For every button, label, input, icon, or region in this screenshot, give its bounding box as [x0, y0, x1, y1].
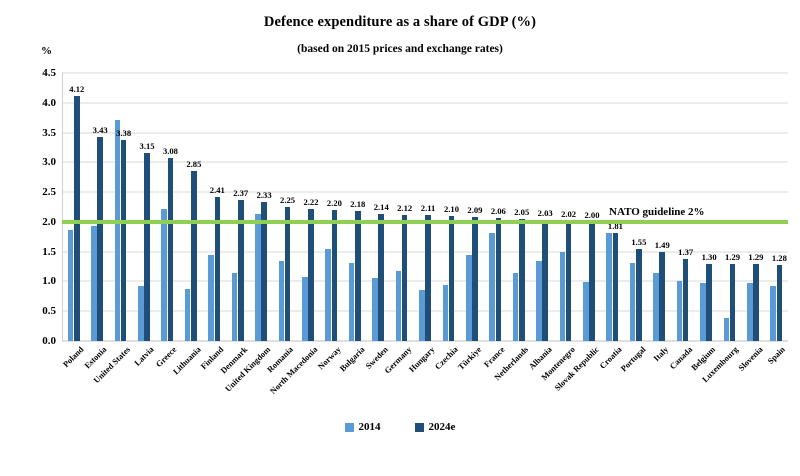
x-axis-category-label: Spain [766, 345, 787, 366]
bar-2024e [659, 252, 665, 341]
bar-group: 4.12 [62, 73, 85, 341]
bar-group: 1.29 [741, 73, 764, 341]
bar-group: 2.03 [530, 73, 553, 341]
legend-swatch-icon [415, 423, 424, 432]
bar-2014 [232, 273, 238, 341]
bar-2014 [560, 252, 566, 341]
bar-2014 [630, 263, 636, 341]
legend-item[interactable]: 2014 [345, 421, 381, 433]
bar-2014 [396, 271, 402, 341]
bar-2024e [613, 233, 619, 341]
bar-2024e [378, 214, 384, 341]
bar-group: 2.20 [320, 73, 343, 341]
bar-group: 2.22 [296, 73, 319, 341]
bar-group: 2.12 [390, 73, 413, 341]
y-axis-tick-label: 1.5 [22, 246, 56, 258]
y-axis-tick-label: 2.5 [22, 186, 56, 198]
bar-group: 2.37 [226, 73, 249, 341]
defence-expenditure-chart: Defence expenditure as a share of GDP (%… [0, 0, 800, 476]
bar-group: 3.08 [156, 73, 179, 341]
x-axis-category-label: Türkiye [456, 345, 483, 372]
y-axis-tick-label: 4.0 [22, 97, 56, 109]
bar-2014 [489, 233, 495, 341]
bar-2024e [777, 265, 783, 341]
bar-2014 [279, 261, 285, 341]
bar-2024e [542, 220, 548, 341]
nato-guideline-label: NATO guideline 2% [609, 206, 705, 218]
legend-label: 2014 [359, 421, 381, 433]
bar-2024e [589, 222, 595, 341]
bar-2024e [97, 137, 103, 341]
bar-2024e [449, 216, 455, 341]
bar-2014 [138, 286, 144, 341]
bar-group: 2.11 [413, 73, 436, 341]
y-axis-tick-label: 0.5 [22, 305, 56, 317]
x-axis-category-label: Slovak Republic [553, 345, 601, 393]
bar-2014 [372, 278, 378, 341]
bar-2024e [121, 140, 127, 341]
bar-2024e [519, 219, 525, 341]
bar-2014 [443, 285, 449, 341]
x-axis-category-label: Czechia [434, 345, 460, 371]
bar-2024e [168, 158, 174, 341]
bar-group: 2.00 [577, 73, 600, 341]
bar-2014 [747, 283, 753, 341]
bar-2024e [355, 211, 361, 341]
y-axis-unit-label: % [41, 45, 52, 57]
bar-group: 3.38 [109, 73, 132, 341]
bar-2014 [91, 226, 97, 341]
bar-group: 2.18 [343, 73, 366, 341]
bar-2014 [161, 209, 167, 341]
bar-2014 [325, 249, 331, 341]
chart-legend: 20142024e [0, 421, 800, 433]
bar-group: 2.05 [507, 73, 530, 341]
nato-guideline-line [62, 220, 788, 224]
bar-2014 [513, 273, 519, 341]
x-axis-category-label: Bulgaria [338, 345, 366, 373]
chart-subtitle: (based on 2015 prices and exchange rates… [0, 43, 800, 55]
bar-2024e [425, 215, 431, 341]
bar-2014 [255, 214, 261, 341]
bar-group: 1.29 [718, 73, 741, 341]
bar-2024e [402, 215, 408, 341]
bar-2014 [653, 273, 659, 341]
legend-item[interactable]: 2024e [415, 421, 456, 433]
bar-2014 [68, 230, 74, 341]
bar-2024e [566, 221, 572, 341]
bar-group: 2.25 [273, 73, 296, 341]
bar-group: 2.41 [203, 73, 226, 341]
y-axis-tick-label: 4.5 [22, 67, 56, 79]
bar-2024e [308, 209, 314, 341]
y-axis-tick-label: 2.0 [22, 216, 56, 228]
bar-2024e [706, 264, 712, 341]
bar-2014 [185, 289, 191, 341]
bar-group: 2.10 [437, 73, 460, 341]
bar-2024e [730, 264, 736, 341]
bar-2024e [332, 210, 338, 341]
y-axis-tick-label: 3.5 [22, 127, 56, 139]
legend-label: 2024e [429, 421, 456, 433]
bar-2014 [770, 286, 776, 341]
bar-2014 [208, 255, 214, 341]
bar-2014 [302, 277, 308, 341]
chart-title: Defence expenditure as a share of GDP (%… [0, 14, 800, 31]
bar-group: 2.33 [249, 73, 272, 341]
bar-2014 [536, 261, 542, 341]
bar-2014 [606, 233, 612, 341]
bar-2024e [285, 207, 291, 341]
x-axis-category-label: Latvia [133, 345, 156, 368]
bar-2014 [724, 318, 730, 341]
bar-group: 3.15 [132, 73, 155, 341]
bar-2024e [191, 171, 197, 341]
y-axis-tick-label: 0.0 [22, 335, 56, 347]
bar-group: 2.85 [179, 73, 202, 341]
bar-2014 [419, 290, 425, 341]
bar-value-label: 1.28 [768, 253, 790, 263]
bar-2024e [683, 259, 689, 341]
y-axis-tick-label: 1.0 [22, 275, 56, 287]
bar-group: 2.06 [484, 73, 507, 341]
bar-2014 [349, 263, 355, 341]
x-axis-category-label: Poland [61, 345, 85, 369]
bar-2014 [700, 283, 706, 341]
x-axis-category-label: Slovenia [737, 345, 765, 373]
x-axis-category-label: Italy [652, 345, 670, 363]
bar-2014 [115, 120, 121, 341]
bar-group: 2.14 [366, 73, 389, 341]
bar-group: 2.09 [460, 73, 483, 341]
bar-2024e [144, 153, 150, 341]
bar-group: 1.28 [765, 73, 788, 341]
bar-2014 [466, 255, 472, 341]
bar-2014 [583, 282, 589, 341]
x-axis-category-label: North Macedonia [268, 345, 319, 396]
bar-2014 [677, 281, 683, 341]
bar-2024e [636, 249, 642, 341]
legend-swatch-icon [345, 423, 354, 432]
y-axis-tick-label: 3.0 [22, 156, 56, 168]
bar-2024e [74, 96, 80, 341]
x-axis-category-label: Portugal [619, 345, 647, 373]
bar-group: 3.43 [85, 73, 108, 341]
bar-2024e [753, 264, 759, 341]
bar-group: 2.02 [554, 73, 577, 341]
bar-2024e [496, 218, 502, 341]
bar-2024e [472, 217, 478, 341]
